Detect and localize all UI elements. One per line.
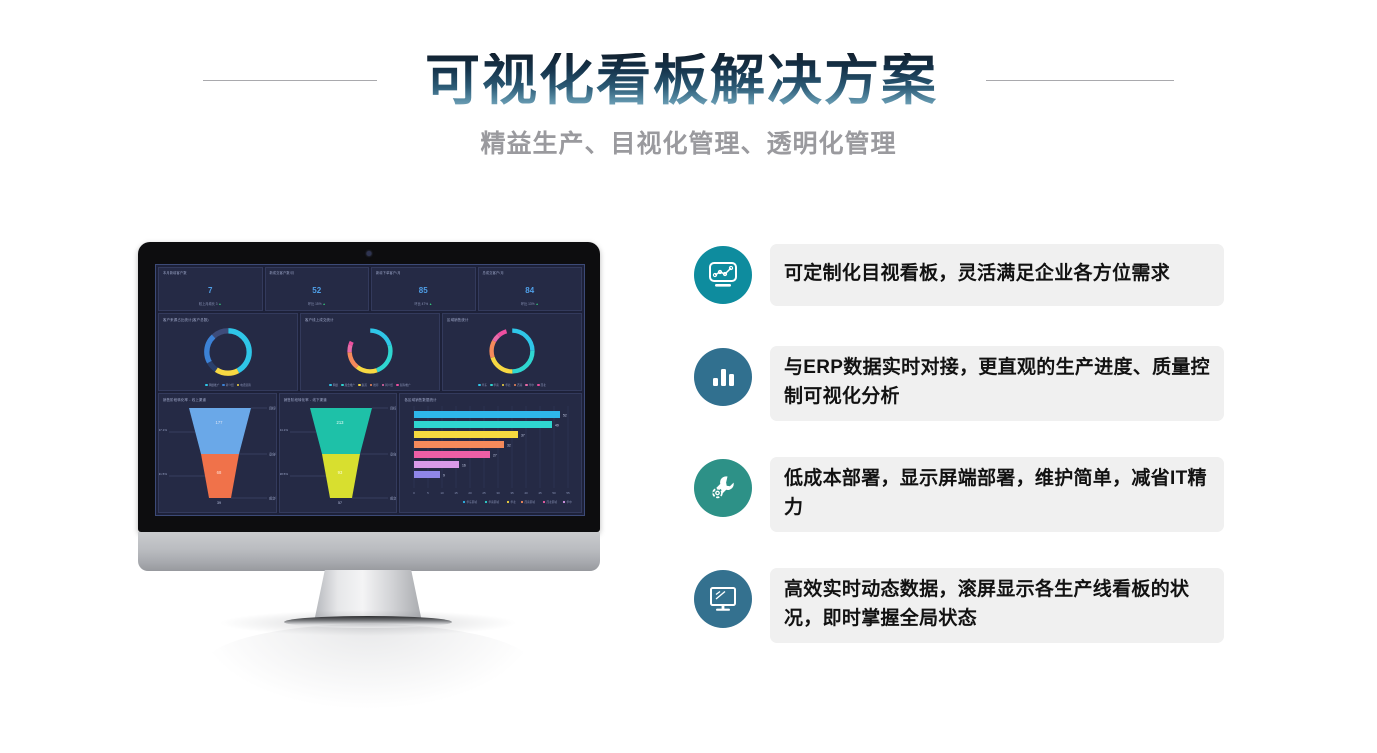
legend-label: 华南: [494, 383, 499, 387]
monitor-display-icon: [694, 570, 752, 628]
monitor-screen: 本月新增客户数 7 较上月增长 3 ▲ 新成交客户数/月 52 环比: [155, 264, 585, 516]
svg-text:华中: 华中: [567, 500, 573, 504]
feature-text-box: 低成本部署，显示屏端部署，维护简单，减省IT精力: [770, 457, 1224, 532]
bar-value: 32: [507, 444, 511, 448]
chart-legend: 网络推广 转介绍 电话营销: [159, 383, 297, 387]
svg-text:10: 10: [441, 491, 445, 495]
funnel-label-top: 目标客户: [390, 405, 398, 410]
kpi-sub-value: 15%: [315, 302, 321, 306]
bar-value: 49: [555, 424, 559, 428]
kpi-sub-label: 环比: [521, 302, 527, 306]
webcam-icon: [367, 251, 372, 256]
trend-up-icon: ▲: [218, 302, 221, 306]
svg-text:55: 55: [567, 491, 571, 495]
funnel-label-bottom: 成交客户: [269, 495, 277, 500]
bar: [414, 461, 459, 468]
legend-item: 推荐: [370, 383, 379, 387]
monitor-reflection: [203, 624, 533, 708]
kpi-subtext: 环比 47% ▲: [372, 301, 475, 306]
monitor-bezel: 本月新增客户数 7 较上月增长 3 ▲ 新成交客户数/月 52 环比: [138, 242, 600, 532]
legend-item: 华中: [525, 383, 534, 387]
funnel-rate-top: 转化率 44.1%: [280, 427, 288, 432]
funnel-rate-bottom: 转化率 38.5%: [280, 471, 288, 476]
legend-label: 渠道: [362, 383, 367, 387]
bar: [414, 431, 518, 438]
kpi-title: 总成交客户/月: [483, 271, 578, 275]
svg-text:15: 15: [455, 491, 459, 495]
chart-legend: 华东 华南 华北 西南 华中 西北: [443, 383, 581, 387]
svg-text:西北区域: 西北区域: [547, 500, 558, 504]
legend-item: 转介绍: [222, 383, 233, 387]
legend-item: 直销/推广: [396, 383, 411, 387]
funnel-label-bottom: 成交客户: [390, 495, 398, 500]
funnel-label-mid: 意向客户: [390, 451, 398, 456]
funnel-mid-value: 68: [217, 470, 222, 475]
legend-label: 推荐: [373, 383, 378, 387]
svg-text:30: 30: [497, 491, 501, 495]
svg-text:0: 0: [414, 491, 416, 495]
legend-label: 华北: [505, 383, 510, 387]
legend-label: 华东: [482, 383, 487, 387]
kpi-title: 本月新增客户数: [163, 271, 258, 275]
legend-label: 网络推广: [209, 383, 219, 387]
monitor-mockup: 本月新增客户数 7 较上月增长 3 ▲ 新成交客户数/月 52 环比: [118, 228, 618, 678]
funnel-top-value: 177: [216, 420, 224, 425]
feature-text: 低成本部署，显示屏端部署，维护简单，减省IT精力: [784, 465, 1210, 522]
donut-chart: [343, 324, 397, 378]
funnel-mid-value: 93: [337, 470, 342, 475]
legend-label: 电话营销: [240, 383, 250, 387]
bar-value: 27: [493, 454, 497, 458]
feature-item[interactable]: 与ERP数据实时对接，更直观的生产进度、质量控制可视化分析: [694, 346, 1224, 421]
feature-list: 可定制化目视看板，灵活满足企业各方位需求 与ERP数据实时对接，更直观的生产进度…: [694, 244, 1224, 643]
kpi-sub-label: 环比: [308, 302, 314, 306]
svg-text:25: 25: [483, 491, 487, 495]
title-rule-right: [986, 80, 1174, 81]
feature-item[interactable]: 低成本部署，显示屏端部署，维护简单，减省IT精力: [694, 457, 1224, 532]
bar: [414, 411, 560, 418]
funnel-label-mid: 意向客户: [269, 451, 277, 456]
feature-text: 可定制化目视看板，灵活满足企业各方位需求: [784, 260, 1170, 289]
bar-chart: 52 49 37 32 27 16 9 0510 152025 303540: [400, 402, 582, 507]
chart-title: 客户线上成交统计: [305, 317, 435, 322]
kpi-value: 84: [479, 286, 582, 295]
svg-text:20: 20: [469, 491, 473, 495]
kpi-sub-label: 环比: [414, 302, 420, 306]
funnel-chart: 213 93 57 目标客户 意向客户 成交客户 转化率 44.1% 转化率 3…: [280, 402, 398, 507]
kpi-card[interactable]: 新增下单客户/月 85 环比 47% ▲: [371, 267, 476, 311]
funnel-card[interactable]: 销售阶段转化率 - 线下渠道 213 93 57 目: [279, 393, 398, 513]
kpi-sub-value: 47%: [422, 302, 428, 306]
wrench-gear-icon: [694, 459, 752, 517]
svg-text:华南区域: 华南区域: [489, 500, 500, 504]
svg-text:40: 40: [525, 491, 529, 495]
kpi-title: 新增下单客户/月: [376, 271, 471, 275]
bottom-row: 销售阶段转化率 - 线上渠道 177 68 39 目: [158, 393, 582, 513]
funnel-rate-top: 转化率 47.1%: [159, 427, 167, 432]
svg-text:西南区域: 西南区域: [525, 500, 536, 504]
bar: [414, 441, 504, 448]
bar: [414, 471, 440, 478]
legend-item: 渠道: [358, 383, 367, 387]
kpi-subtext: 环比 13% ▲: [479, 301, 582, 306]
bar-value: 52: [563, 414, 567, 418]
kpi-card[interactable]: 本月新增客户数 7 较上月增长 3 ▲: [158, 267, 263, 311]
x-axis-ticks: 0510 152025 303540 455055: [414, 491, 571, 495]
funnel-label-top: 目标客户: [269, 405, 277, 410]
svg-text:35: 35: [511, 491, 515, 495]
donut-card[interactable]: 客户来源占比统计(客户总数) 网络推广: [158, 313, 298, 391]
dashboard: 本月新增客户数 7 较上月增长 3 ▲ 新成交客户数/月 52 环比: [156, 265, 584, 515]
kpi-value: 52: [266, 286, 369, 295]
page-subtitle: 精益生产、目视化管理、透明化管理: [0, 124, 1377, 160]
bar-chart-card[interactable]: 各区域销售数据统计: [399, 393, 582, 513]
legend-item: 展会推广: [341, 383, 355, 387]
feature-text: 高效实时动态数据，滚屏显示各生产线看板的状况，即时掌握全局状态: [784, 576, 1210, 633]
feature-item[interactable]: 高效实时动态数据，滚屏显示各生产线看板的状况，即时掌握全局状态: [694, 568, 1224, 643]
feature-item[interactable]: 可定制化目视看板，灵活满足企业各方位需求: [694, 244, 1224, 310]
svg-text:华东区域: 华东区域: [467, 500, 478, 504]
donut-chart: [485, 324, 539, 378]
bar: [414, 421, 552, 428]
legend-item: 华东: [478, 383, 487, 387]
funnel-bottom-value: 39: [217, 501, 221, 505]
legend-label: 直销/推广: [400, 383, 411, 387]
chart-title: 区域销售统计: [447, 317, 577, 322]
legend-item: 华北: [502, 383, 511, 387]
funnel-top-value: 213: [336, 420, 344, 425]
funnel-chart: 177 68 39 目标客户 意向客户 成交客户 转化率 47.1% 转化率 3…: [159, 402, 277, 507]
kpi-row: 本月新增客户数 7 较上月增长 3 ▲ 新成交客户数/月 52 环比: [158, 267, 582, 311]
legend-item: 华南: [490, 383, 499, 387]
legend-item: 西北: [537, 383, 546, 387]
kpi-subtext: 环比 15% ▲: [266, 301, 369, 306]
kpi-card[interactable]: 总成交客户/月 84 环比 13% ▲: [478, 267, 583, 311]
feature-text-box: 与ERP数据实时对接，更直观的生产进度、质量控制可视化分析: [770, 346, 1224, 421]
feature-text: 与ERP数据实时对接，更直观的生产进度、质量控制可视化分析: [784, 354, 1210, 411]
svg-text:45: 45: [539, 491, 543, 495]
kpi-sub-label: 较上月增长: [199, 302, 215, 306]
bar: [414, 451, 490, 458]
legend-item: 网络: [329, 383, 338, 387]
svg-text:50: 50: [553, 491, 557, 495]
bar-value: 37: [521, 434, 525, 438]
donut-card[interactable]: 客户线上成交统计 网络: [300, 313, 440, 391]
svg-text:华北: 华北: [511, 500, 517, 504]
trend-up-icon: ▲: [322, 302, 325, 306]
donut-holder: [159, 324, 297, 380]
feature-text-box: 可定制化目视看板，灵活满足企业各方位需求: [770, 244, 1224, 306]
chart-legend: 网络 展会推广 渠道 推荐 转介绍 直销/推广: [301, 383, 439, 387]
monitor-chin: [138, 532, 600, 571]
donut-card[interactable]: 区域销售统计 华东: [442, 313, 582, 391]
kpi-card[interactable]: 新成交客户数/月 52 环比 15% ▲: [265, 267, 370, 311]
donut-holder: [301, 324, 439, 378]
legend-item: 转介绍: [382, 383, 393, 387]
bar-value: 16: [462, 464, 466, 468]
bar-chart-icon: [694, 348, 752, 406]
page-header: 可视化看板解决方案 精益生产、目视化管理、透明化管理: [0, 0, 1377, 185]
trend-up-icon: ▲: [429, 302, 432, 306]
donut-row: 客户来源占比统计(客户总数) 网络推广: [158, 313, 582, 391]
funnel-rate-bottom: 转化率 31.5%: [159, 471, 167, 476]
legend-label: 华中: [529, 383, 534, 387]
page-title: 可视化看板解决方案: [425, 53, 938, 108]
title-rule-left: [203, 80, 377, 81]
donut-holder: [443, 324, 581, 378]
kpi-subtext: 较上月增长 3 ▲: [159, 301, 262, 306]
legend-item: 电话营销: [237, 383, 251, 387]
svg-text:5: 5: [428, 491, 430, 495]
kpi-value: 7: [159, 286, 262, 295]
funnel-bottom-value: 57: [338, 501, 342, 505]
kpi-sub-value: 13%: [528, 302, 534, 306]
kpi-title: 新成交客户数/月: [270, 271, 365, 275]
legend-label: 西南: [517, 383, 522, 387]
legend-label: 网络: [333, 383, 338, 387]
trend-up-icon: ▲: [535, 302, 538, 306]
donut-chart: [200, 324, 256, 380]
kpi-value: 85: [372, 286, 475, 295]
legend-item: 西南: [514, 383, 523, 387]
feature-text-box: 高效实时动态数据，滚屏显示各生产线看板的状况，即时掌握全局状态: [770, 568, 1224, 643]
legend-label: 转介绍: [226, 383, 234, 387]
bar-legend: 华东区域 华南区域 华北 西南区域 西北区域 华中: [463, 500, 572, 504]
legend-label: 展会推广: [345, 383, 355, 387]
bar-value: 9: [443, 474, 445, 478]
chart-title: 客户来源占比统计(客户总数): [163, 317, 293, 322]
title-row: 可视化看板解决方案: [0, 40, 1377, 120]
legend-label: 转介绍: [385, 383, 393, 387]
monitor-line-chart-icon: [694, 246, 752, 304]
legend-item: 网络推广: [205, 383, 219, 387]
legend-label: 西北: [541, 383, 546, 387]
funnel-card[interactable]: 销售阶段转化率 - 线上渠道 177 68 39 目: [158, 393, 277, 513]
